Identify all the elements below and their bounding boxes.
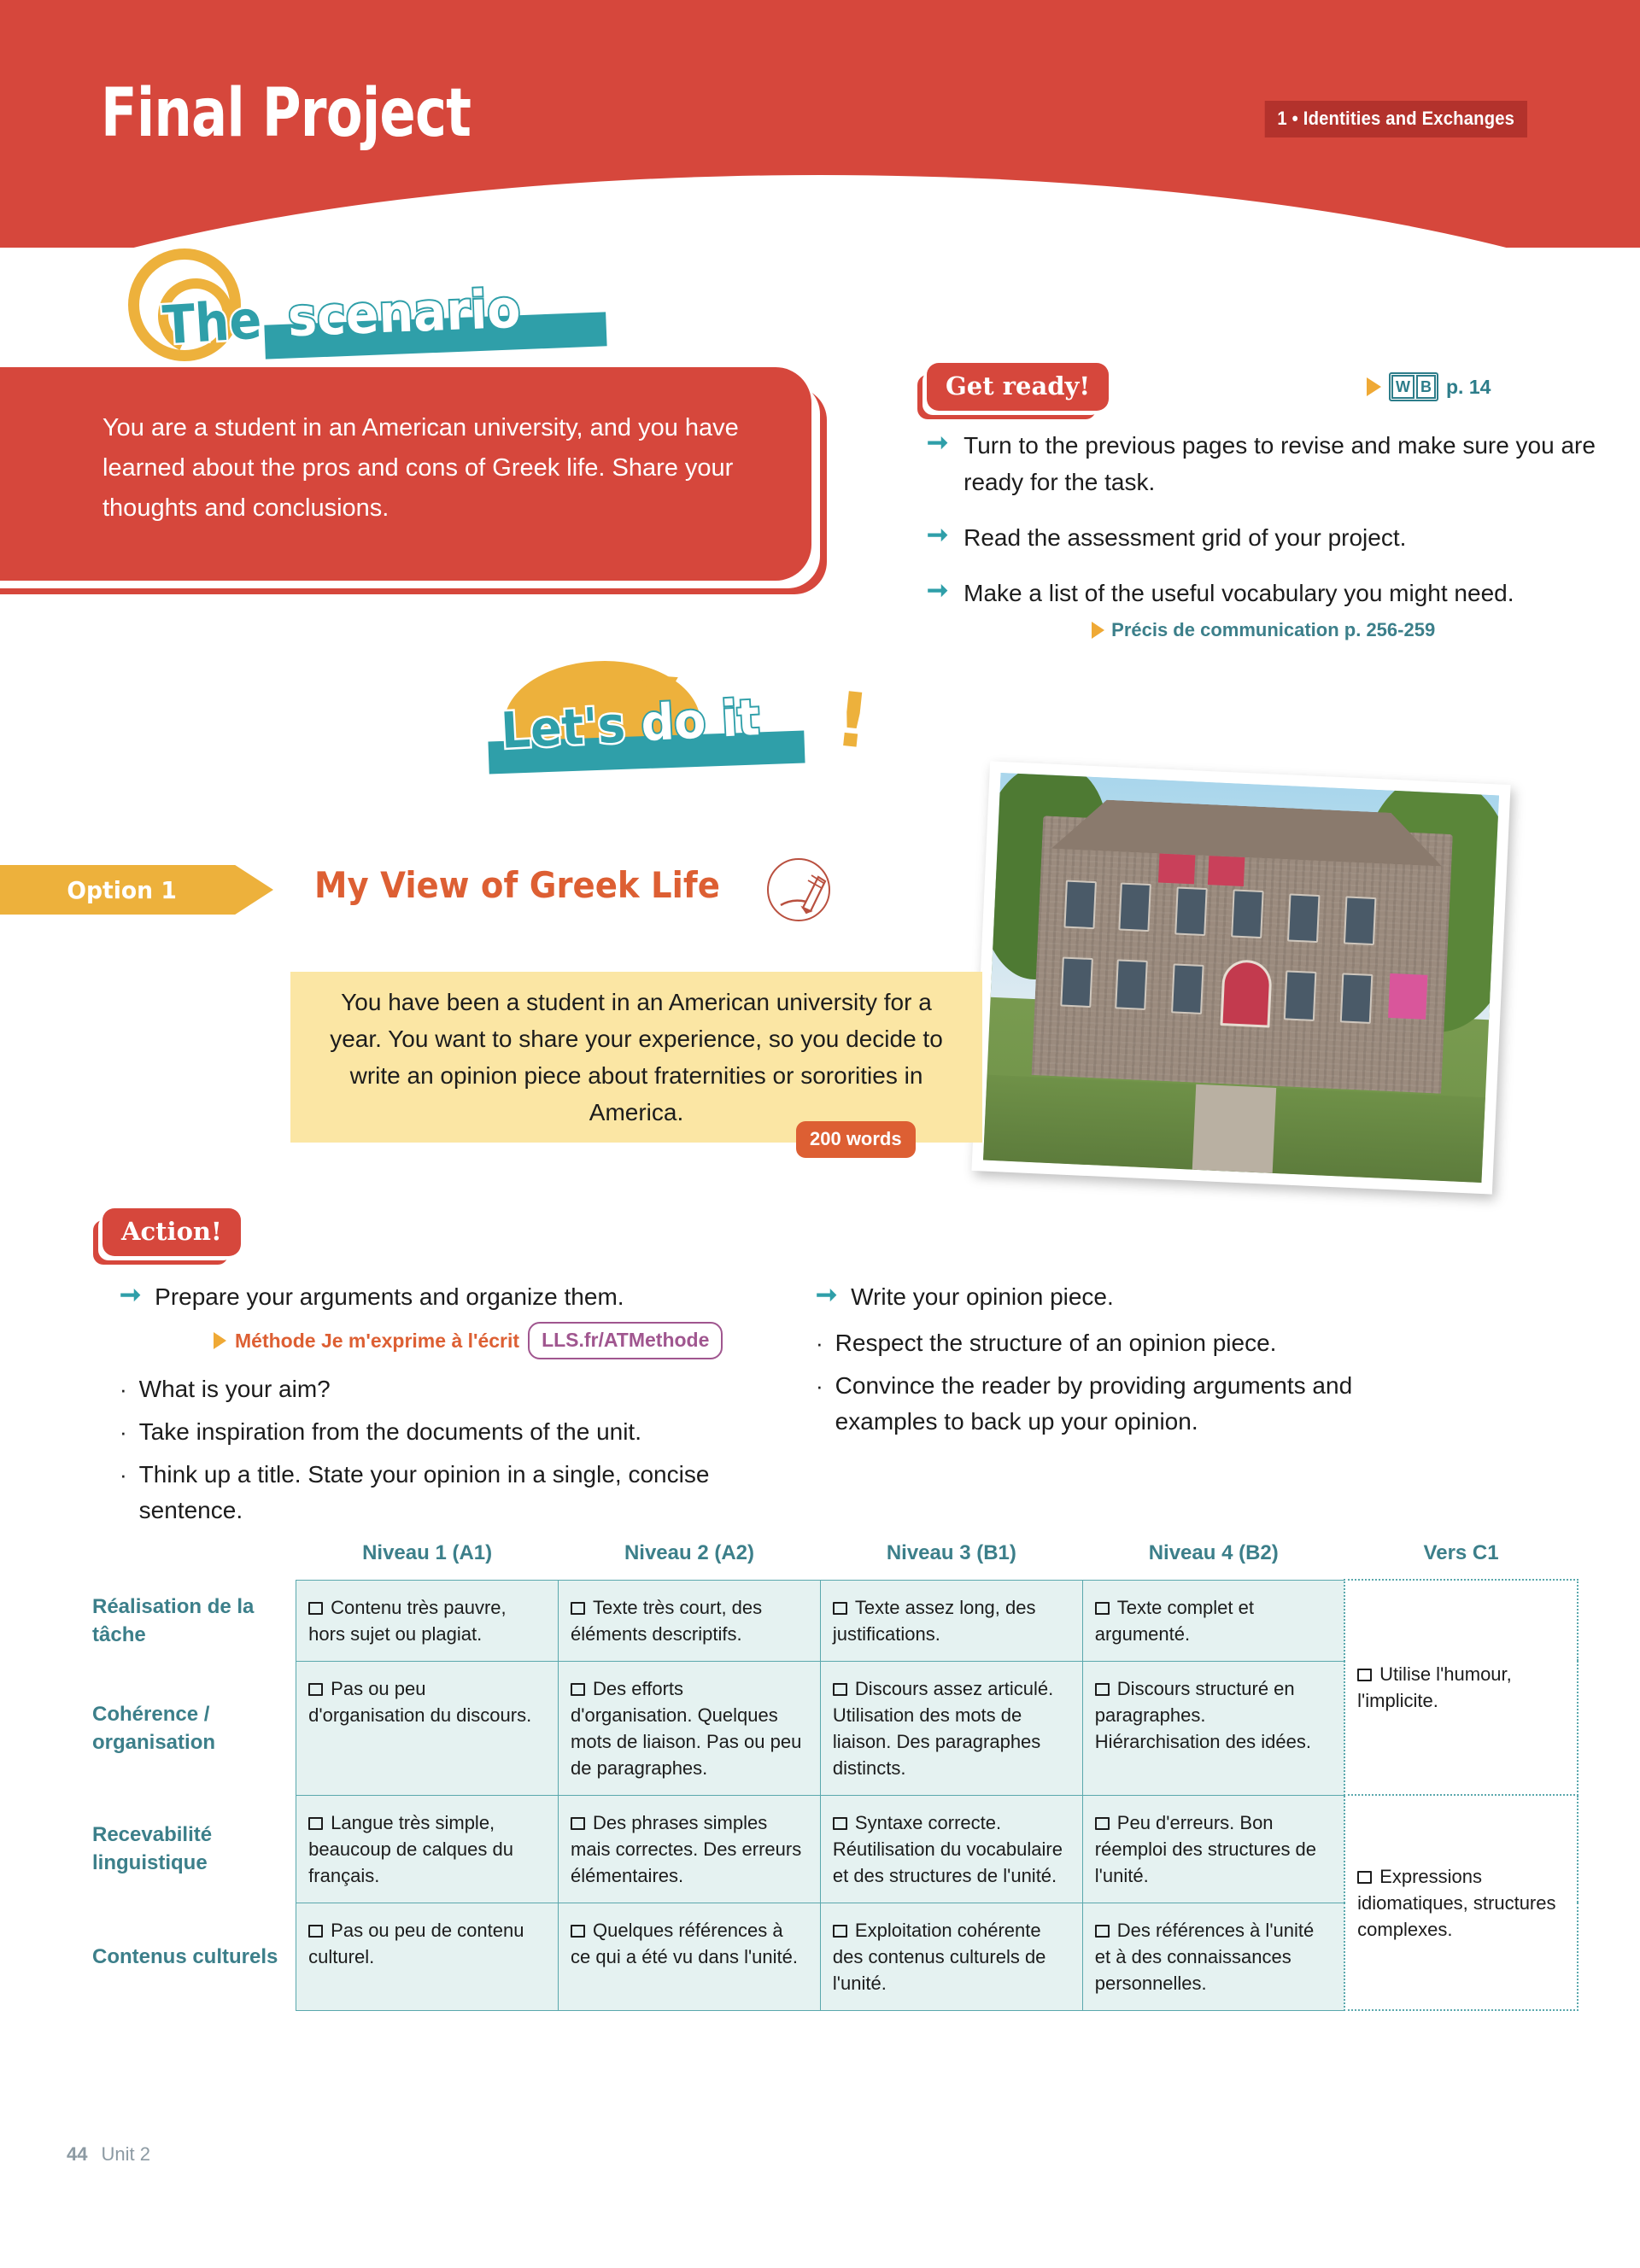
grid-cell: Discours assez articulé. Utilisation des… xyxy=(820,1661,1082,1795)
checkbox-icon[interactable] xyxy=(571,1925,585,1938)
grid-row: Réalisation de la tâche Contenu très pau… xyxy=(92,1580,1578,1661)
word-count-badge: 200 words xyxy=(796,1121,916,1158)
checkbox-icon[interactable] xyxy=(308,1817,323,1830)
grid-column-header: Niveau 1 (A1) xyxy=(296,1541,559,1580)
photo-banner-right xyxy=(1208,856,1245,886)
lets-do-it-logo: Let's do it ! xyxy=(453,658,880,786)
checkbox-icon[interactable] xyxy=(571,1602,585,1615)
grid-column-header: Vers C1 xyxy=(1344,1541,1578,1580)
grid-cell-text: Texte complet et argumenté. xyxy=(1095,1597,1254,1645)
header-curve-decoration xyxy=(0,175,1640,248)
photo-window xyxy=(1171,963,1204,1014)
page-title: Final Project xyxy=(101,75,471,152)
get-ready-item-text: Turn to the previous pages to revise and… xyxy=(963,427,1602,500)
unit-tag-separator: • xyxy=(1287,108,1303,129)
grid-header-row: Niveau 1 (A1) Niveau 2 (A2) Niveau 3 (B1… xyxy=(92,1541,1578,1580)
grid-cell-text: Texte assez long, des justifications. xyxy=(833,1597,1036,1645)
workbook-reference[interactable]: W B p. 14 xyxy=(1367,372,1491,401)
precis-reference-label: Précis de communication p. 256-259 xyxy=(1111,611,1435,648)
grid-cell-text: Texte très court, des éléments descripti… xyxy=(571,1597,762,1645)
workbook-icon-letter-b: B xyxy=(1416,375,1436,399)
page-footer: 44Unit 2 xyxy=(67,2143,150,2166)
photo-window xyxy=(1115,959,1148,1010)
grid-cell: Discours structuré en paragraphes. Hiéra… xyxy=(1082,1661,1344,1795)
checkbox-icon[interactable] xyxy=(833,1817,847,1830)
assessment-grid: Niveau 1 (A1) Niveau 2 (A2) Niveau 3 (B1… xyxy=(92,1541,1578,2011)
photo-pathway xyxy=(1192,1084,1276,1173)
checkbox-icon[interactable] xyxy=(833,1683,847,1696)
action-bullet-text: Respect the structure of an opinion piec… xyxy=(835,1325,1277,1361)
get-ready-item-text: Read the assessment grid of your project… xyxy=(963,519,1406,556)
action-arrow-item: ➞ Prepare your arguments and organize th… xyxy=(120,1279,794,1315)
photo-window xyxy=(1174,886,1208,936)
photo-window xyxy=(1340,973,1373,1024)
grid-cell: Des références à l'unité et à des connai… xyxy=(1082,1903,1344,2010)
checkbox-icon[interactable] xyxy=(1095,1817,1110,1830)
action-bullet-text: What is your aim? xyxy=(139,1371,331,1407)
get-ready-item-text: Make a list of the useful vocabulary you… xyxy=(963,575,1602,651)
get-ready-item: ➞ Make a list of the useful vocabulary y… xyxy=(927,575,1602,651)
grid-cell-text: Expressions idiomatiques, structures com… xyxy=(1357,1866,1555,1940)
photo-window xyxy=(1063,880,1097,930)
scenario-text: You are a student in an American univers… xyxy=(102,408,752,529)
get-ready-badge-wrap: Get ready! xyxy=(927,363,1109,411)
scenario-logo-word-scenario: scenario xyxy=(287,278,522,348)
action-badge: Action! xyxy=(102,1208,241,1256)
lets-do-it-word-lets: Let's xyxy=(500,695,627,760)
grid-cell: Pas ou peu d'organisation du discours. xyxy=(296,1661,559,1795)
grid-row-header: Cohérence / organisation xyxy=(92,1661,296,1795)
bullet-dot-icon: · xyxy=(120,1414,127,1450)
scenario-logo-word-the: The xyxy=(161,289,263,357)
pencil-icon xyxy=(767,858,830,921)
footer-page-number: 44 xyxy=(67,2143,87,2165)
triangle-marker-icon xyxy=(1092,622,1104,639)
triangle-marker-icon xyxy=(1367,377,1381,396)
checkbox-icon[interactable] xyxy=(1357,1669,1372,1681)
bullet-dot-icon: · xyxy=(120,1371,127,1407)
grid-cell-text: Des phrases simples mais correctes. Des … xyxy=(571,1812,801,1886)
action-column-right: ➞ Write your opinion piece. · Respect th… xyxy=(816,1279,1431,1447)
action-bullet: · Convince the reader by providing argum… xyxy=(816,1368,1431,1440)
action-badge-wrap: Action! xyxy=(102,1208,241,1256)
grid-cell-c1: Expressions idiomatiques, structures com… xyxy=(1344,1795,1578,2010)
action-bullet-text: Convince the reader by providing argumen… xyxy=(835,1368,1431,1440)
grid-cell-text: Des références à l'unité et à des connai… xyxy=(1095,1920,1314,1994)
photo-window xyxy=(1231,889,1264,938)
precis-reference[interactable]: Précis de communication p. 256-259 xyxy=(1092,611,1435,648)
grid-column-header: Niveau 2 (A2) xyxy=(559,1541,821,1580)
grid-cell: Exploitation cohérente des contenus cult… xyxy=(820,1903,1082,2010)
checkbox-icon[interactable] xyxy=(308,1925,323,1938)
grid-row-header: Contenus culturels xyxy=(92,1903,296,2010)
grid-cell: Des phrases simples mais correctes. Des … xyxy=(559,1795,821,1903)
task-description-box: You have been a student in an American u… xyxy=(290,972,982,1143)
checkbox-icon[interactable] xyxy=(308,1683,323,1696)
bullet-dot-icon: · xyxy=(120,1457,127,1529)
checkbox-icon[interactable] xyxy=(571,1817,585,1830)
grid-cell-text: Discours assez articulé. Utilisation des… xyxy=(833,1678,1053,1779)
bullet-dot-icon: · xyxy=(816,1368,823,1440)
bullet-dot-icon: · xyxy=(816,1325,823,1361)
lets-do-it-word-doit: do it xyxy=(640,688,761,752)
action-arrow-text: Write your opinion piece. xyxy=(851,1279,1114,1315)
task-description-text: You have been a student in an American u… xyxy=(320,984,952,1131)
grid-cell: Peu d'erreurs. Bon réemploi des structur… xyxy=(1082,1795,1344,1903)
unit-tag: 1 • Identities and Exchanges xyxy=(1265,101,1527,137)
photo-image xyxy=(983,773,1499,1183)
action-column-left: ➞ Prepare your arguments and organize th… xyxy=(120,1279,794,1535)
arrow-right-icon: ➞ xyxy=(927,519,948,556)
grid-corner-cell xyxy=(92,1541,296,1580)
checkbox-icon[interactable] xyxy=(308,1602,323,1615)
grid-cell-c1: Utilise l'humour, l'implicite. xyxy=(1344,1580,1578,1795)
scenario-box: You are a student in an American univers… xyxy=(0,367,811,581)
unit-tag-label: Identities and Exchanges xyxy=(1303,108,1514,129)
method-reference[interactable]: Méthode Je m'exprime à l'écrit LLS.fr/AT… xyxy=(214,1322,794,1359)
action-bullet: · Think up a title. State your opinion i… xyxy=(120,1457,794,1529)
photo-banner-left xyxy=(1158,854,1195,885)
grid-cell-text: Syntaxe correcte. Réutilisation du vocab… xyxy=(833,1812,1063,1886)
scenario-logo: The scenario xyxy=(128,260,606,363)
grid-cell-text: Pas ou peu d'organisation du discours. xyxy=(308,1678,531,1726)
grid-cell: Des efforts d'organisation. Quelques mot… xyxy=(559,1661,821,1795)
checkbox-icon[interactable] xyxy=(833,1925,847,1938)
grid-cell-text: Peu d'erreurs. Bon réemploi des structur… xyxy=(1095,1812,1316,1886)
grid-row-header: Recevabilité linguistique xyxy=(92,1795,296,1903)
action-arrow-text: Prepare your arguments and organize them… xyxy=(155,1279,624,1315)
photo-window xyxy=(1284,970,1317,1021)
get-ready-badge: Get ready! xyxy=(927,363,1109,411)
grid-cell: Contenu très pauvre, hors sujet ou plagi… xyxy=(296,1580,559,1661)
checkbox-icon[interactable] xyxy=(1095,1602,1110,1615)
get-ready-item-label: Make a list of the useful vocabulary you… xyxy=(963,580,1514,606)
grid-cell: Texte complet et argumenté. xyxy=(1082,1580,1344,1661)
method-reference-label: Méthode Je m'exprime à l'écrit xyxy=(235,1330,519,1353)
unit-tag-number: 1 xyxy=(1278,108,1287,129)
arrow-right-icon: ➞ xyxy=(927,575,948,651)
photo-window xyxy=(1118,882,1151,932)
grid-cell: Langue très simple, beaucoup de calques … xyxy=(296,1795,559,1903)
action-bullet: · Take inspiration from the documents of… xyxy=(120,1414,794,1450)
option-banner-label: Option 1 xyxy=(67,876,177,904)
grid-cell-text: Quelques références à ce qui a été vu da… xyxy=(571,1920,798,1967)
footer-unit-label: Unit 2 xyxy=(101,2143,149,2165)
fraternity-house-photo xyxy=(971,761,1510,1194)
arrow-right-icon: ➞ xyxy=(816,1279,837,1315)
workbook-icon-letter-w: W xyxy=(1391,375,1414,399)
grid-cell-text: Des efforts d'organisation. Quelques mot… xyxy=(571,1678,801,1779)
checkbox-icon[interactable] xyxy=(833,1602,847,1615)
option-banner: Option 1 xyxy=(0,865,273,915)
photo-window xyxy=(1060,956,1093,1008)
photo-window xyxy=(1287,893,1321,943)
grid-row-header: Réalisation de la tâche xyxy=(92,1580,296,1661)
get-ready-item: ➞ Turn to the previous pages to revise a… xyxy=(927,427,1602,500)
checkbox-icon[interactable] xyxy=(1095,1683,1110,1696)
textbook-page: Final Project 1 • Identities and Exchang… xyxy=(0,0,1640,2268)
option-title: My View of Greek Life xyxy=(314,864,720,906)
checkbox-icon[interactable] xyxy=(1095,1925,1110,1938)
action-bullet: · Respect the structure of an opinion pi… xyxy=(816,1325,1431,1361)
photo-window xyxy=(1344,896,1377,945)
workbook-page-label: p. 14 xyxy=(1446,376,1491,399)
lets-do-it-exclamation: ! xyxy=(831,675,875,766)
action-bullet: · What is your aim? xyxy=(120,1371,794,1407)
get-ready-list: ➞ Turn to the previous pages to revise a… xyxy=(927,427,1602,669)
arrow-right-icon: ➞ xyxy=(927,427,948,500)
get-ready-item: ➞ Read the assessment grid of your proje… xyxy=(927,519,1602,556)
grid-cell: Texte assez long, des justifications. xyxy=(820,1580,1082,1661)
method-link-pill[interactable]: LLS.fr/ATMethode xyxy=(528,1322,723,1359)
grid-row: Recevabilité linguistique Langue très si… xyxy=(92,1795,1578,1903)
action-bullet-text: Take inspiration from the documents of t… xyxy=(139,1414,641,1450)
grid-cell-text: Contenu très pauvre, hors sujet ou plagi… xyxy=(308,1597,506,1645)
grid-cell-text: Pas ou peu de contenu culturel. xyxy=(308,1920,524,1967)
workbook-book-icon: W B xyxy=(1389,372,1438,401)
assessment-grid-table: Niveau 1 (A1) Niveau 2 (A2) Niveau 3 (B1… xyxy=(92,1541,1578,2011)
grid-cell: Texte très court, des éléments descripti… xyxy=(559,1580,821,1661)
grid-cell-text: Utilise l'humour, l'implicite. xyxy=(1357,1663,1512,1711)
grid-column-header: Niveau 3 (B1) xyxy=(820,1541,1082,1580)
grid-cell-text: Discours structuré en paragraphes. Hiéra… xyxy=(1095,1678,1311,1752)
arrow-right-icon: ➞ xyxy=(120,1279,141,1315)
grid-cell: Syntaxe correcte. Réutilisation du vocab… xyxy=(820,1795,1082,1903)
action-bullet-text: Think up a title. State your opinion in … xyxy=(139,1457,794,1529)
grid-cell-text: Exploitation cohérente des contenus cult… xyxy=(833,1920,1046,1994)
grid-cell: Pas ou peu de contenu culturel. xyxy=(296,1903,559,2010)
triangle-marker-icon xyxy=(214,1332,226,1349)
checkbox-icon[interactable] xyxy=(571,1683,585,1696)
checkbox-icon[interactable] xyxy=(1357,1871,1372,1884)
grid-cell: Quelques références à ce qui a été vu da… xyxy=(559,1903,821,2010)
grid-cell-text: Langue très simple, beaucoup de calques … xyxy=(308,1812,513,1886)
photo-banner-pink xyxy=(1388,973,1427,1020)
grid-column-header: Niveau 4 (B2) xyxy=(1082,1541,1344,1580)
photo-entrance-door xyxy=(1220,959,1272,1028)
action-arrow-item: ➞ Write your opinion piece. xyxy=(816,1279,1431,1315)
